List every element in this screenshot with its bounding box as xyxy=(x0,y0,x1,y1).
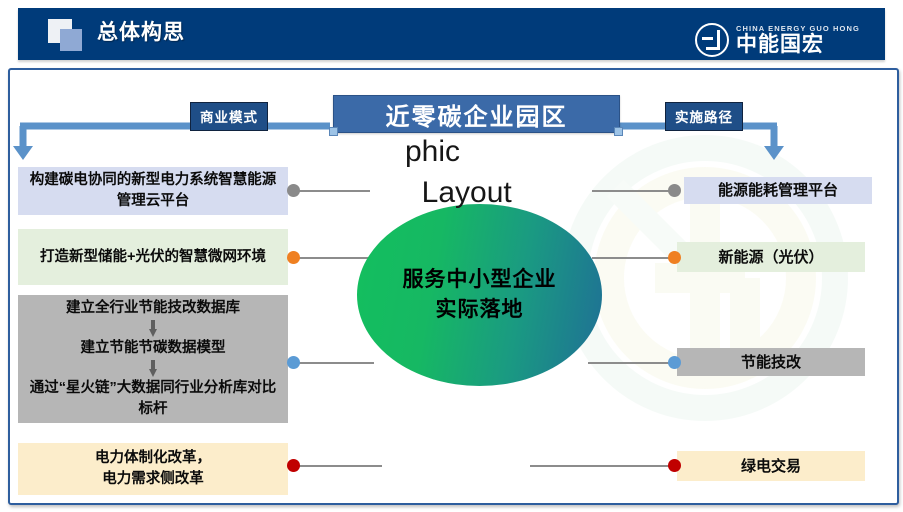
selection-handle-left[interactable] xyxy=(329,127,338,136)
left-dot-2 xyxy=(287,251,300,264)
company-logo: CHINA ENERGY GUO HONG 中能国宏 xyxy=(695,18,865,62)
right-box-4-label: 绿电交易 xyxy=(741,456,801,477)
right-dot-2 xyxy=(668,251,681,264)
left-dot-1 xyxy=(287,184,300,197)
right-dot-4 xyxy=(668,459,681,472)
connector-line-left-2 xyxy=(292,257,370,259)
left-box-2-label: 打造新型储能+光伏的智慧微网环境 xyxy=(40,247,266,268)
connector-line-right-1 xyxy=(592,190,674,192)
right-box-3[interactable]: 节能技改 xyxy=(677,348,865,376)
header-square-blue-icon xyxy=(60,29,82,51)
down-arrow-icon-2 xyxy=(149,360,158,377)
center-ellipse-node[interactable]: 服务中小型企业 实际落地 xyxy=(357,204,602,386)
diagram-main-title[interactable]: 近零碳企业园区 xyxy=(333,95,620,133)
right-box-2-label: 新能源（光伏） xyxy=(718,247,823,268)
slide-root: 总体构思 CHINA ENERGY GUO HONG 中能国宏 xyxy=(0,0,903,512)
left-dot-3 xyxy=(287,356,300,369)
left-box-3-line-2: 建立节能节碳数据模型 xyxy=(81,338,226,359)
overlay-graphic-layout-text: phic Layout xyxy=(405,131,512,213)
left-branch-arrow xyxy=(10,100,340,162)
right-dot-3 xyxy=(668,356,681,369)
right-box-3-label: 节能技改 xyxy=(741,352,801,373)
logo-english-name: CHINA ENERGY GUO HONG xyxy=(736,24,860,33)
slide-header-bar: 总体构思 CHINA ENERGY GUO HONG 中能国宏 xyxy=(18,8,885,60)
left-box-4-label: 电力体制化改革， 电力需求侧改革 xyxy=(95,448,211,490)
left-box-4[interactable]: 电力体制化改革， 电力需求侧改革 xyxy=(18,443,288,495)
connector-line-left-1 xyxy=(292,190,370,192)
left-box-3-line-1: 建立全行业节能技改数据库 xyxy=(66,298,240,319)
connector-line-left-4 xyxy=(292,465,382,467)
connector-line-right-2 xyxy=(592,257,674,259)
page-title: 总体构思 xyxy=(97,19,185,47)
connector-line-right-3 xyxy=(588,362,674,364)
connector-line-left-3 xyxy=(292,362,374,364)
center-ellipse-label: 服务中小型企业 实际落地 xyxy=(403,265,557,325)
left-box-1-label: 构建碳电协同的新型电力系统智慧能源管理云平台 xyxy=(28,170,278,212)
right-box-1-label: 能源能耗管理平台 xyxy=(718,180,838,201)
right-dot-1 xyxy=(668,184,681,197)
right-branch-arrow xyxy=(615,100,899,162)
left-box-3[interactable]: 建立全行业节能技改数据库 建立节能节碳数据模型 通过“星火链”大数据同行业分析库… xyxy=(18,295,288,423)
selection-handle-right[interactable] xyxy=(614,127,623,136)
connector-line-right-4 xyxy=(530,465,674,467)
tag-business-model[interactable]: 商业模式 xyxy=(190,102,268,131)
left-box-1[interactable]: 构建碳电协同的新型电力系统智慧能源管理云平台 xyxy=(18,167,288,215)
right-box-4[interactable]: 绿电交易 xyxy=(677,451,865,481)
down-arrow-icon-1 xyxy=(149,320,158,337)
logo-circle-icon xyxy=(695,23,729,57)
right-box-2[interactable]: 新能源（光伏） xyxy=(677,242,865,272)
right-box-1[interactable]: 能源能耗管理平台 xyxy=(684,177,872,204)
logo-text-group: CHINA ENERGY GUO HONG 中能国宏 xyxy=(736,24,860,56)
left-box-3-line-3: 通过“星火链”大数据同行业分析库对比标杆 xyxy=(28,378,278,420)
left-box-2[interactable]: 打造新型储能+光伏的智慧微网环境 xyxy=(18,229,288,285)
tag-implementation-path[interactable]: 实施路径 xyxy=(665,102,743,131)
logo-chinese-name: 中能国宏 xyxy=(736,34,860,56)
left-dot-4 xyxy=(287,459,300,472)
